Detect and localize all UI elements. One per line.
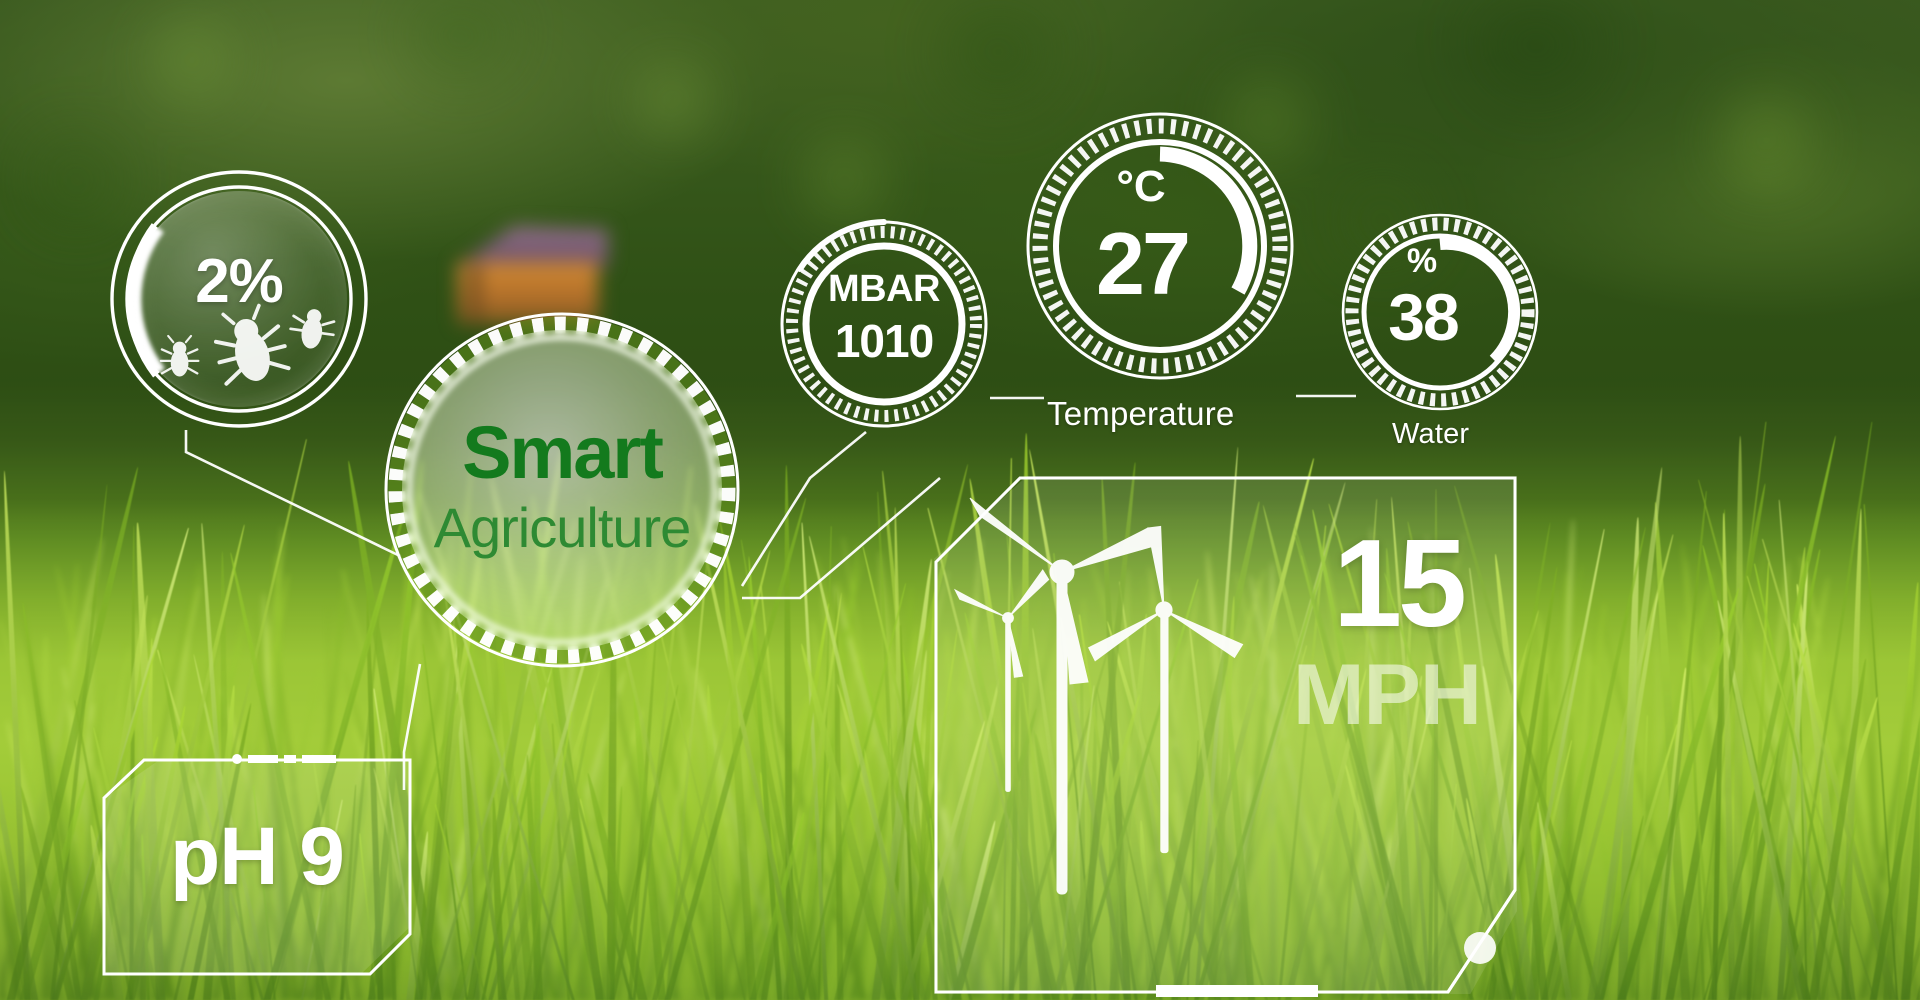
water-label: Water — [1392, 418, 1469, 451]
temperature-gauge-value: 27 — [1052, 220, 1232, 308]
water-gauge[interactable]: % 38 — [1340, 212, 1540, 412]
smart-agriculture-hub[interactable]: Smart Agriculture — [382, 310, 742, 670]
pest-gauge[interactable]: 2% — [108, 168, 370, 430]
screenshot-root: 2% — [0, 0, 1920, 1000]
temperature-label: Temperature — [1047, 395, 1234, 433]
ph-panel[interactable]: pH 9 — [96, 752, 418, 982]
insect-icon — [148, 308, 338, 388]
temperature-gauge[interactable]: °C 27 — [1024, 110, 1296, 382]
pressure-gauge-value: 1010 — [778, 314, 990, 368]
wind-panel[interactable]: 15 MPH — [928, 470, 1523, 1000]
ph-panel-value: pH 9 — [96, 816, 418, 898]
pressure-gauge-unit: MBAR — [778, 268, 990, 311]
pressure-gauge[interactable]: MBAR 1010 — [778, 218, 990, 430]
hub-title-secondary: Agriculture — [382, 500, 742, 556]
water-gauge-unit: % — [1376, 242, 1468, 281]
temperature-gauge-unit: °C — [1076, 162, 1206, 212]
wind-panel-unit: MPH — [1293, 652, 1481, 738]
wind-turbine-icon — [950, 500, 1290, 930]
hub-title-primary: Smart — [382, 416, 742, 490]
water-gauge-value: 38 — [1358, 284, 1488, 350]
pest-gauge-value: 2% — [108, 246, 370, 317]
wind-panel-value: 15 — [1333, 522, 1463, 646]
